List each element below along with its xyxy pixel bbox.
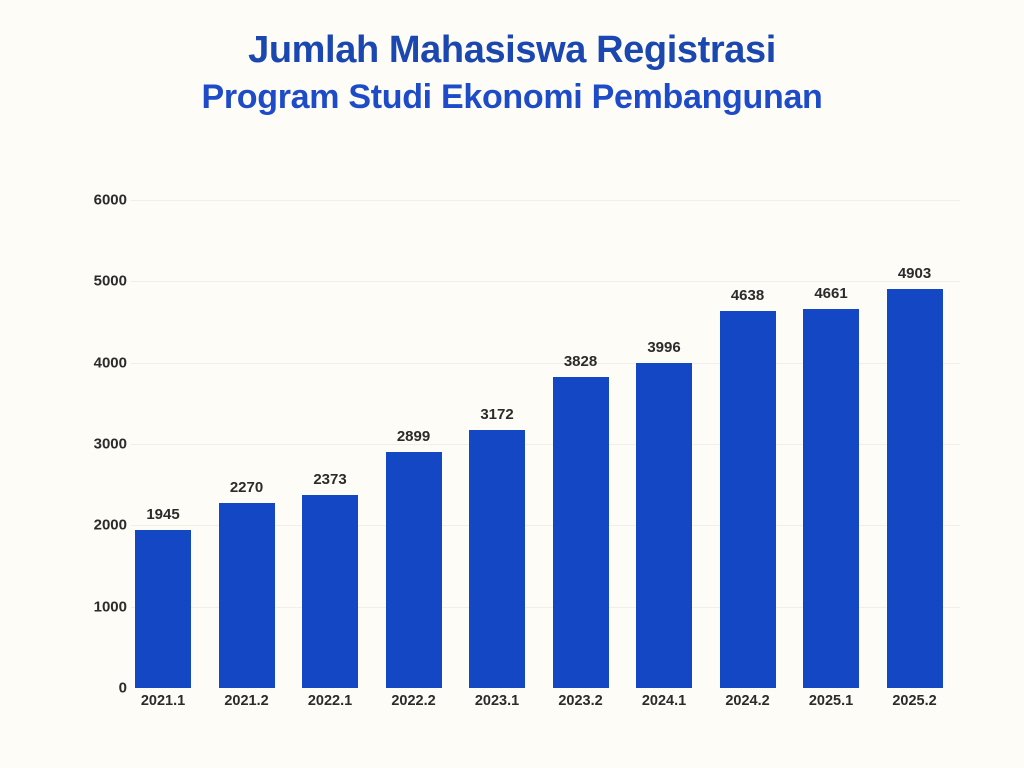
bar-group[interactable]: 4638 <box>720 200 776 688</box>
y-axis-tick-label: 5000 <box>0 274 127 289</box>
bar[interactable] <box>803 309 859 688</box>
x-axis-tick-label: 2022.1 <box>302 694 358 709</box>
bar[interactable] <box>636 363 692 688</box>
bar[interactable] <box>720 311 776 688</box>
bar-value-label: 2270 <box>230 480 263 495</box>
x-axis-tick-label: 2022.2 <box>386 694 442 709</box>
x-axis-tick-label: 2023.1 <box>469 694 525 709</box>
y-axis-tick-label: 0 <box>0 681 127 696</box>
bar-group[interactable]: 4661 <box>803 200 859 688</box>
bar[interactable] <box>219 503 275 688</box>
bar-value-label: 1945 <box>146 507 179 522</box>
bar-group[interactable]: 2270 <box>219 200 275 688</box>
bar[interactable] <box>553 377 609 688</box>
plot-region: 1945227023732899317238283996463846614903 <box>131 200 960 688</box>
y-axis: 0100020003000400050006000 <box>0 200 127 688</box>
bar-value-label: 2899 <box>397 429 430 444</box>
bar-chart: 1945227023732899317238283996463846614903… <box>0 0 1024 768</box>
x-axis-tick-label: 2024.1 <box>636 694 692 709</box>
x-axis-tick-label: 2024.2 <box>720 694 776 709</box>
bar-group[interactable]: 3172 <box>469 200 525 688</box>
bar-value-label: 3996 <box>647 340 680 355</box>
y-axis-tick-label: 3000 <box>0 437 127 452</box>
bar-value-label: 3828 <box>564 354 597 369</box>
bar-group[interactable]: 2373 <box>302 200 358 688</box>
bar-group[interactable]: 3828 <box>553 200 609 688</box>
x-axis-tick-label: 2025.1 <box>803 694 859 709</box>
x-axis-tick-label: 2023.2 <box>553 694 609 709</box>
y-axis-tick-label: 6000 <box>0 193 127 208</box>
bar-value-label: 4638 <box>731 288 764 303</box>
bar[interactable] <box>302 495 358 688</box>
bar-value-label: 4903 <box>898 266 931 281</box>
bar-value-label: 4661 <box>814 286 847 301</box>
x-axis-tick-label: 2025.2 <box>887 694 943 709</box>
bar[interactable] <box>386 452 442 688</box>
bar-group[interactable]: 2899 <box>386 200 442 688</box>
y-axis-tick-label: 2000 <box>0 518 127 533</box>
bar-value-label: 3172 <box>480 407 513 422</box>
x-axis-tick-label: 2021.1 <box>135 694 191 709</box>
bar-value-label: 2373 <box>313 472 346 487</box>
bar[interactable] <box>135 530 191 688</box>
bar-group[interactable]: 4903 <box>887 200 943 688</box>
x-axis-tick-label: 2021.2 <box>219 694 275 709</box>
bar-group[interactable]: 3996 <box>636 200 692 688</box>
y-axis-tick-label: 1000 <box>0 599 127 614</box>
bar[interactable] <box>887 289 943 688</box>
bar[interactable] <box>469 430 525 688</box>
y-axis-tick-label: 4000 <box>0 355 127 370</box>
bar-group[interactable]: 1945 <box>135 200 191 688</box>
